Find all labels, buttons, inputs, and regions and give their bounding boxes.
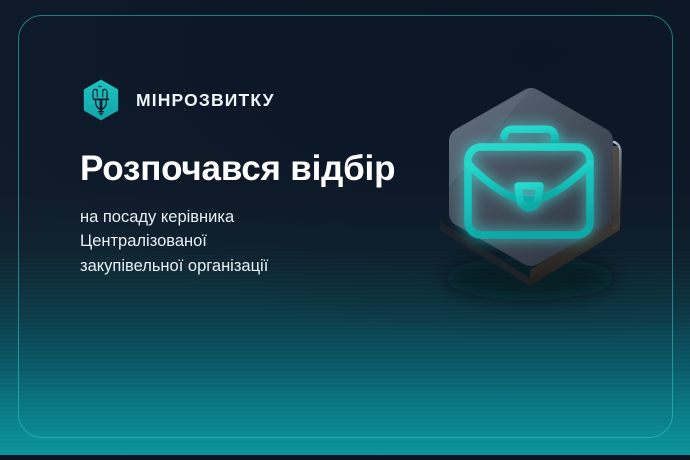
subtitle-line: Централізованої <box>80 229 268 253</box>
page-title: Розпочався відбір <box>80 150 395 189</box>
brand-name: МІНРОЗВИТКУ <box>136 90 275 111</box>
subtitle-line: на посаду керівника <box>80 205 268 229</box>
subtitle-line: закупівельної організації <box>80 254 268 278</box>
brand-lockup: МІНРОЗВИТКУ <box>79 78 275 122</box>
poster-canvas: МІНРОЗВИТКУ Розпочався відбір на посаду … <box>0 0 690 460</box>
ukrainian-trident-hexagon-icon <box>79 78 123 122</box>
page-subtitle: на посаду керівника Централізованої заку… <box>80 205 268 278</box>
bottom-edge-strip <box>0 455 690 460</box>
briefcase-hexagon-badge <box>408 82 640 297</box>
